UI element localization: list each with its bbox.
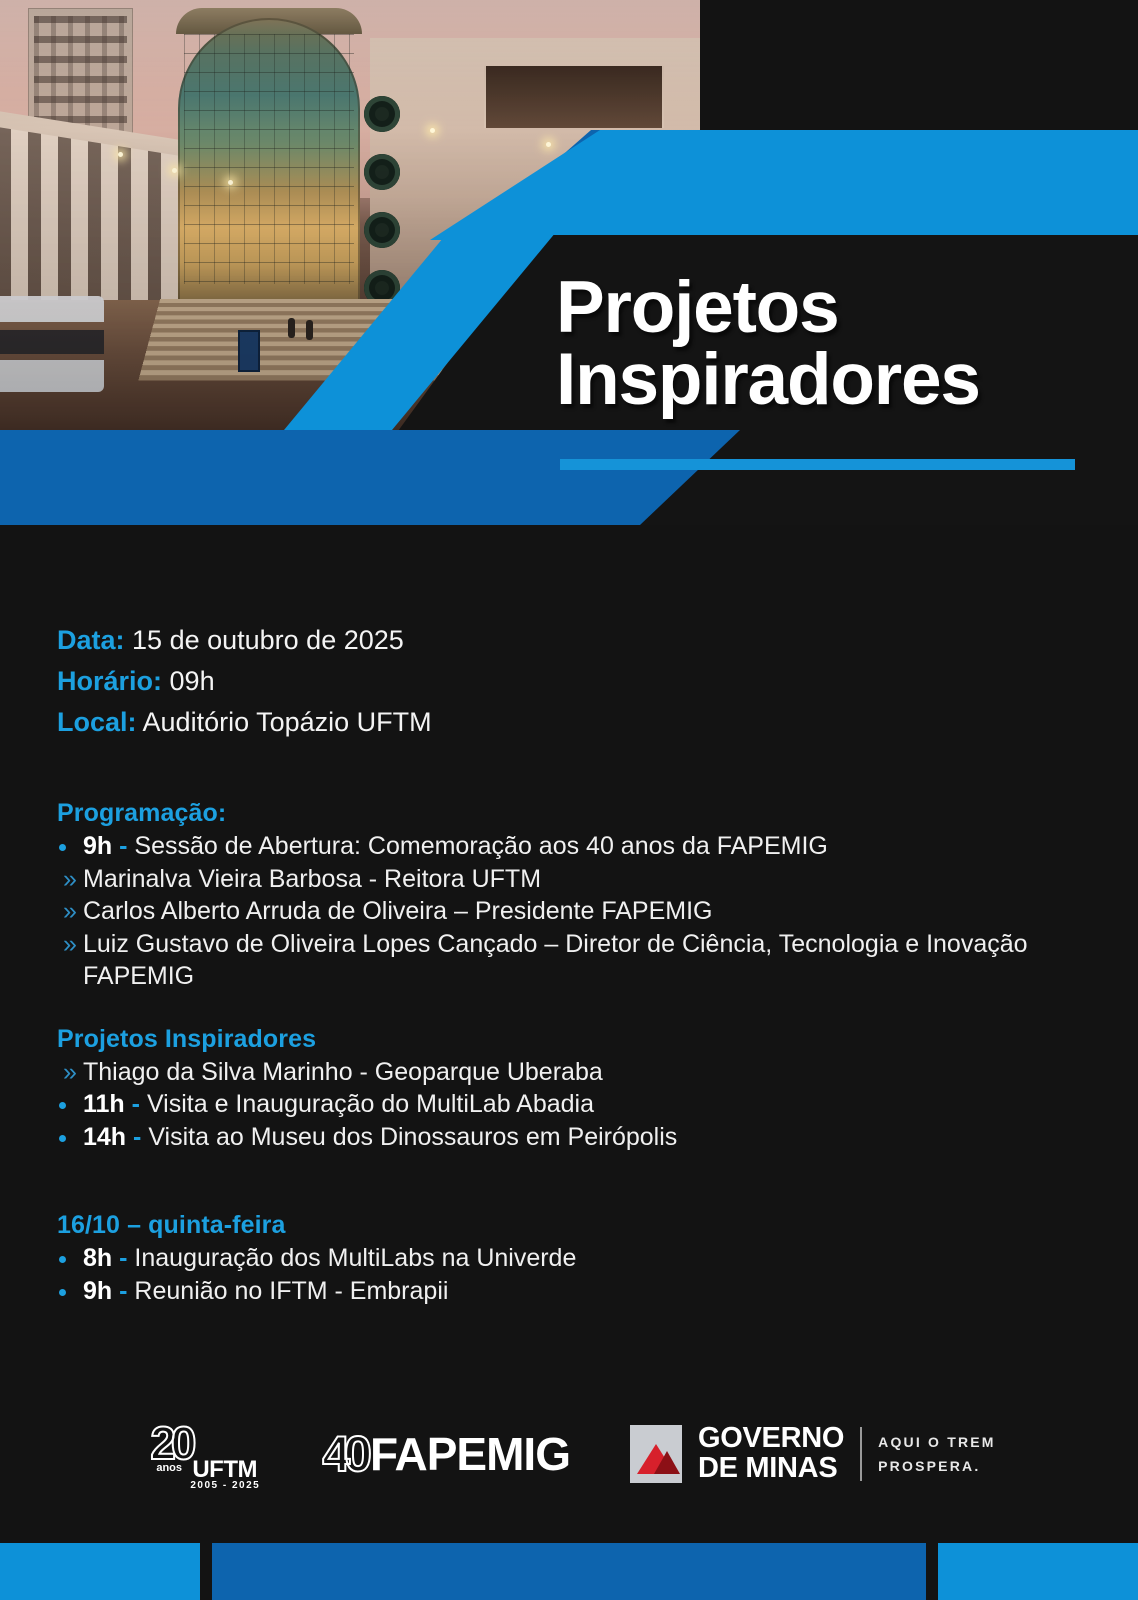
event-place-row: Local: Auditório Topázio UFTM <box>57 702 1087 743</box>
governo-line-1: GOVERNO <box>698 1424 844 1454</box>
fapemig-logo: 40 FAPEMIG <box>322 1425 570 1483</box>
item-text: Marinalva Vieira Barbosa - Reitora UFTM <box>83 865 541 893</box>
footer-bar-left <box>0 1543 200 1600</box>
footer-bar-gap <box>200 1543 212 1600</box>
list-item: 11h - Visita e Inauguração do MultiLab A… <box>57 1088 1087 1121</box>
footer-bar-right <box>938 1543 1138 1600</box>
governo-wordmark: GOVERNO DE MINAS <box>698 1424 844 1483</box>
footer-bar-center <box>212 1543 926 1600</box>
poster-root: Projetos Inspiradores Data: 15 de outubr… <box>0 0 1138 1600</box>
item-text: Luiz Gustavo de Oliveira Lopes Cançado –… <box>83 930 1028 991</box>
governo-line-2: DE MINAS <box>698 1454 844 1484</box>
title-line-1: Projetos <box>556 272 1096 344</box>
event-details: Data: 15 de outubro de 2025 Horário: 09h… <box>57 620 1087 743</box>
item-text: Carlos Alberto Arruda de Oliveira – Pres… <box>83 897 712 925</box>
guillemet-icon: » <box>63 1056 77 1089</box>
uftm-anos-label: anos <box>156 1462 182 1474</box>
item-hour: 14h <box>83 1123 126 1151</box>
programacao-list: 9h - Sessão de Abertura: Comemoração aos… <box>57 830 1087 993</box>
guillemet-icon: » <box>63 863 77 896</box>
list-item: »Marinalva Vieira Barbosa - Reitora UFTM <box>57 863 1087 896</box>
item-hour: 11h <box>83 1090 125 1118</box>
fapemig-40-years-number: 40 <box>322 1425 366 1483</box>
section-heading-projetos: Projetos Inspiradores <box>57 1025 1087 1054</box>
page-title: Projetos Inspiradores <box>556 272 1096 415</box>
item-dash: - <box>132 1090 140 1118</box>
sponsor-logos: 20 anos UFTM 2005 - 2025 40 FAPEMIG GOVE… <box>0 1398 1138 1510</box>
item-text: Sessão de Abertura: Comemoração aos 40 a… <box>134 832 827 860</box>
fapemig-wordmark: FAPEMIG <box>370 1427 570 1481</box>
event-date-row: Data: 15 de outubro de 2025 <box>57 620 1087 661</box>
poster-content: Data: 15 de outubro de 2025 Horário: 09h… <box>57 620 1087 1307</box>
item-hour: 8h <box>83 1244 112 1272</box>
item-text: Reunião no IFTM - Embrapii <box>134 1277 448 1305</box>
event-place-label: Local: <box>57 707 137 737</box>
minas-mountain-icon <box>630 1425 682 1483</box>
item-text: Visita e Inauguração do MultiLab Abadia <box>147 1090 594 1118</box>
event-date-label: Data: <box>57 625 125 655</box>
footer-bar-gap <box>926 1543 938 1600</box>
list-item: »Luiz Gustavo de Oliveira Lopes Cançado … <box>57 928 1087 993</box>
footer-color-bars <box>0 1543 1138 1600</box>
item-hour: 9h <box>83 1277 112 1305</box>
item-text: Thiago da Silva Marinho - Geoparque Uber… <box>83 1058 603 1086</box>
logo-divider <box>860 1427 862 1481</box>
bullet-dot-icon <box>59 1289 66 1296</box>
list-item: 8h - Inauguração dos MultiLabs na Univer… <box>57 1242 1087 1275</box>
list-item: 9h - Sessão de Abertura: Comemoração aos… <box>57 830 1087 863</box>
list-item: 14h - Visita ao Museu dos Dinossauros em… <box>57 1121 1087 1154</box>
projetos-list: »Thiago da Silva Marinho - Geoparque Ube… <box>57 1056 1087 1154</box>
governo-de-minas-logo: GOVERNO DE MINAS AQUI O TREM PROSPERA. <box>630 1424 996 1483</box>
guillemet-icon: » <box>63 895 77 928</box>
slogan-line-2: PROSPERA. <box>878 1454 996 1479</box>
section-heading-dia16: 16/10 – quinta-feira <box>57 1211 1087 1240</box>
slogan-line-1: AQUI O TREM <box>878 1430 996 1455</box>
item-dash: - <box>119 832 127 860</box>
event-time-row: Horário: 09h <box>57 661 1087 702</box>
poster-header: Projetos Inspiradores <box>0 0 1138 525</box>
item-hour: 9h <box>83 832 112 860</box>
event-time-label: Horário: <box>57 666 162 696</box>
governo-slogan: AQUI O TREM PROSPERA. <box>878 1430 996 1479</box>
list-item: »Carlos Alberto Arruda de Oliveira – Pre… <box>57 895 1087 928</box>
header-bottom-blue-bar <box>0 430 740 525</box>
uftm-year-range: 2005 - 2025 <box>190 1480 260 1491</box>
item-dash: - <box>119 1244 127 1272</box>
guillemet-icon: » <box>63 928 77 961</box>
title-underline-rule <box>560 459 1075 470</box>
bullet-dot-icon <box>59 1135 66 1142</box>
section-heading-programacao: Programação: <box>57 799 1087 828</box>
bullet-dot-icon <box>59 844 66 851</box>
item-dash: - <box>119 1277 127 1305</box>
bullet-dot-icon <box>59 1102 66 1109</box>
item-text: Visita ao Museu dos Dinossauros em Peiró… <box>148 1123 677 1151</box>
event-place-value: Auditório Topázio UFTM <box>143 707 432 737</box>
uftm-logo: 20 anos UFTM 2005 - 2025 <box>142 1414 262 1494</box>
list-item: 9h - Reunião no IFTM - Embrapii <box>57 1275 1087 1308</box>
item-text: Inauguração dos MultiLabs na Univerde <box>134 1244 576 1272</box>
bullet-dot-icon <box>59 1256 66 1263</box>
title-line-2: Inspiradores <box>556 344 1096 416</box>
event-time-value: 09h <box>170 666 215 696</box>
dia16-list: 8h - Inauguração dos MultiLabs na Univer… <box>57 1242 1087 1307</box>
event-date-value: 15 de outubro de 2025 <box>132 625 404 655</box>
list-item: »Thiago da Silva Marinho - Geoparque Ube… <box>57 1056 1087 1089</box>
item-dash: - <box>133 1123 141 1151</box>
